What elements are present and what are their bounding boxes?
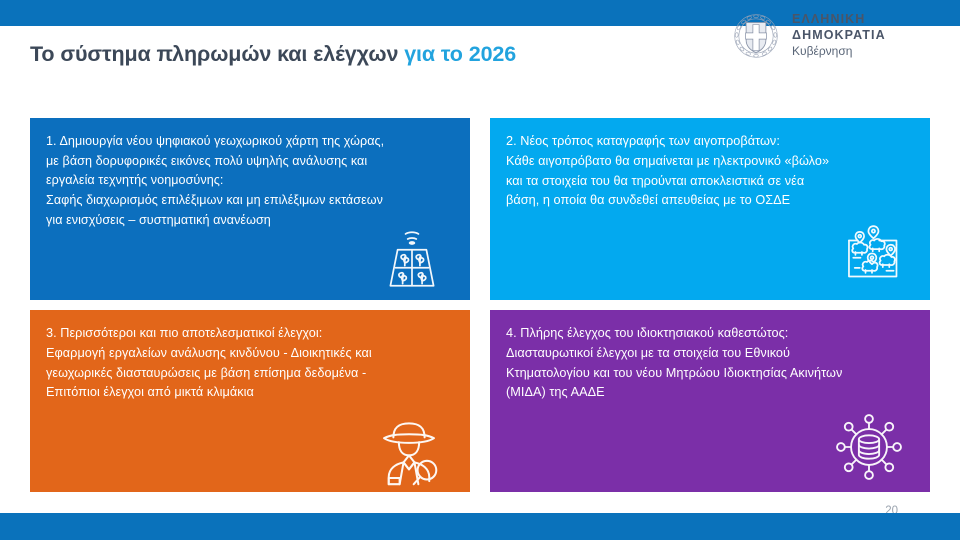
measure-card-2-text: 2. Νέος τρόπος καταγραφής των αιγοπροβάτ… (506, 132, 914, 211)
measure-card-3[interactable]: 3. Περισσότεροι και πιο αποτελεσματικοί … (30, 310, 470, 492)
measure-card-3-text: 3. Περισσότεροι και πιο αποτελεσματικοί … (46, 324, 454, 403)
satellite-field-map-icon (376, 220, 448, 294)
measures-card-grid: 1. Δημιουργία νέου ψηφιακού γεωχωρικού χ… (30, 118, 930, 492)
measure-card-4[interactable]: 4. Πλήρης έλεγχος του ιδιοκτησιακού καθε… (490, 310, 930, 492)
page-title-highlight: για το 2026 (404, 42, 516, 66)
slide-canvas: ΕΛΛΗΝΙΚΗ ΔΗΜΟΚΡΑΤΙΑ Κυβέρνηση Το σύστημα… (0, 0, 960, 540)
hellenic-republic-logo: ΕΛΛΗΝΙΚΗ ΔΗΜΟΚΡΑΤΙΑ Κυβέρνηση (730, 8, 945, 64)
bottom-accent-bar (0, 513, 960, 540)
page-title: Το σύστημα πληρωμών και ελέγχων για το 2… (30, 42, 516, 67)
inspector-magnifier-icon (370, 414, 448, 492)
logo-text-block: ΕΛΛΗΝΙΚΗ ΔΗΜΟΚΡΑΤΙΑ Κυβέρνηση (792, 12, 945, 60)
measure-card-4-text: 4. Πλήρης έλεγχος του ιδιοκτησιακού καθε… (506, 324, 914, 403)
page-title-main: Το σύστημα πληρωμών και ελέγχων (30, 42, 404, 66)
logo-subtitle: Κυβέρνηση (792, 44, 945, 60)
sheep-location-map-icon (834, 216, 910, 288)
logo-title: ΕΛΛΗΝΙΚΗ ΔΗΜΟΚΡΑΤΙΑ (792, 12, 945, 43)
hellenic-republic-coat-of-arms-icon (730, 10, 782, 62)
measure-card-2[interactable]: 2. Νέος τρόπος καταγραφής των αιγοπροβάτ… (490, 118, 930, 300)
measure-card-1-text: 1. Δημιουργία νέου ψηφιακού γεωχωρικού χ… (46, 132, 454, 230)
database-network-icon (830, 408, 908, 486)
measure-card-1[interactable]: 1. Δημιουργία νέου ψηφιακού γεωχωρικού χ… (30, 118, 470, 300)
